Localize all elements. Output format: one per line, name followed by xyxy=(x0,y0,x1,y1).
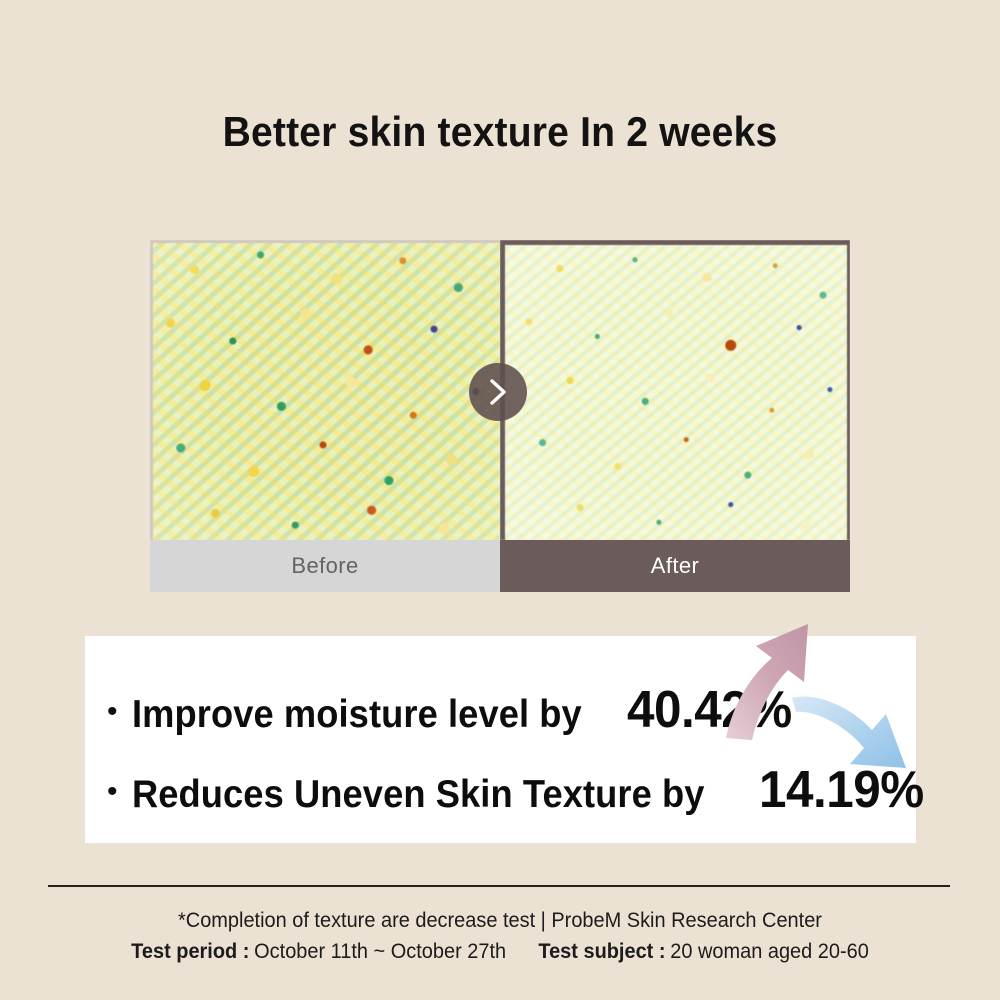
claim-value: 14.19% xyxy=(759,760,924,820)
claim-label: Improve moisture level by xyxy=(132,693,582,737)
test-period-label: Test period : xyxy=(131,940,249,964)
before-caption: Before xyxy=(150,540,500,592)
claims-card: • Improve moisture level by 40.42% • Red… xyxy=(85,636,916,843)
bullet-icon: • xyxy=(107,697,118,727)
test-subject-value: 20 woman aged 20-60 xyxy=(670,940,869,964)
after-skin-texture-image xyxy=(500,240,850,540)
claim-row: • Improve moisture level by 40.42% xyxy=(107,680,801,740)
chevron-right-icon xyxy=(469,363,527,421)
claim-label: Reduces Uneven Skin Texture by xyxy=(132,773,705,817)
page-title: Better skin texture In 2 weeks xyxy=(35,108,965,156)
footer-divider xyxy=(48,885,950,887)
footnote-text: *Completion of texture are decrease test… xyxy=(25,909,975,933)
before-panel: Before xyxy=(150,240,500,592)
claim-value: 40.42% xyxy=(627,680,792,740)
after-caption: After xyxy=(500,540,850,592)
after-panel: After xyxy=(500,240,850,592)
before-skin-texture-image xyxy=(150,240,500,540)
test-period-value: October 11th ~ October 27th xyxy=(254,940,506,964)
test-subject-label: Test subject : xyxy=(538,940,665,964)
claim-row: • Reduces Uneven Skin Texture by 14.19% xyxy=(107,760,933,820)
test-meta: Test period : October 11th ~ October 27t… xyxy=(25,940,975,964)
bullet-icon: • xyxy=(107,777,118,807)
